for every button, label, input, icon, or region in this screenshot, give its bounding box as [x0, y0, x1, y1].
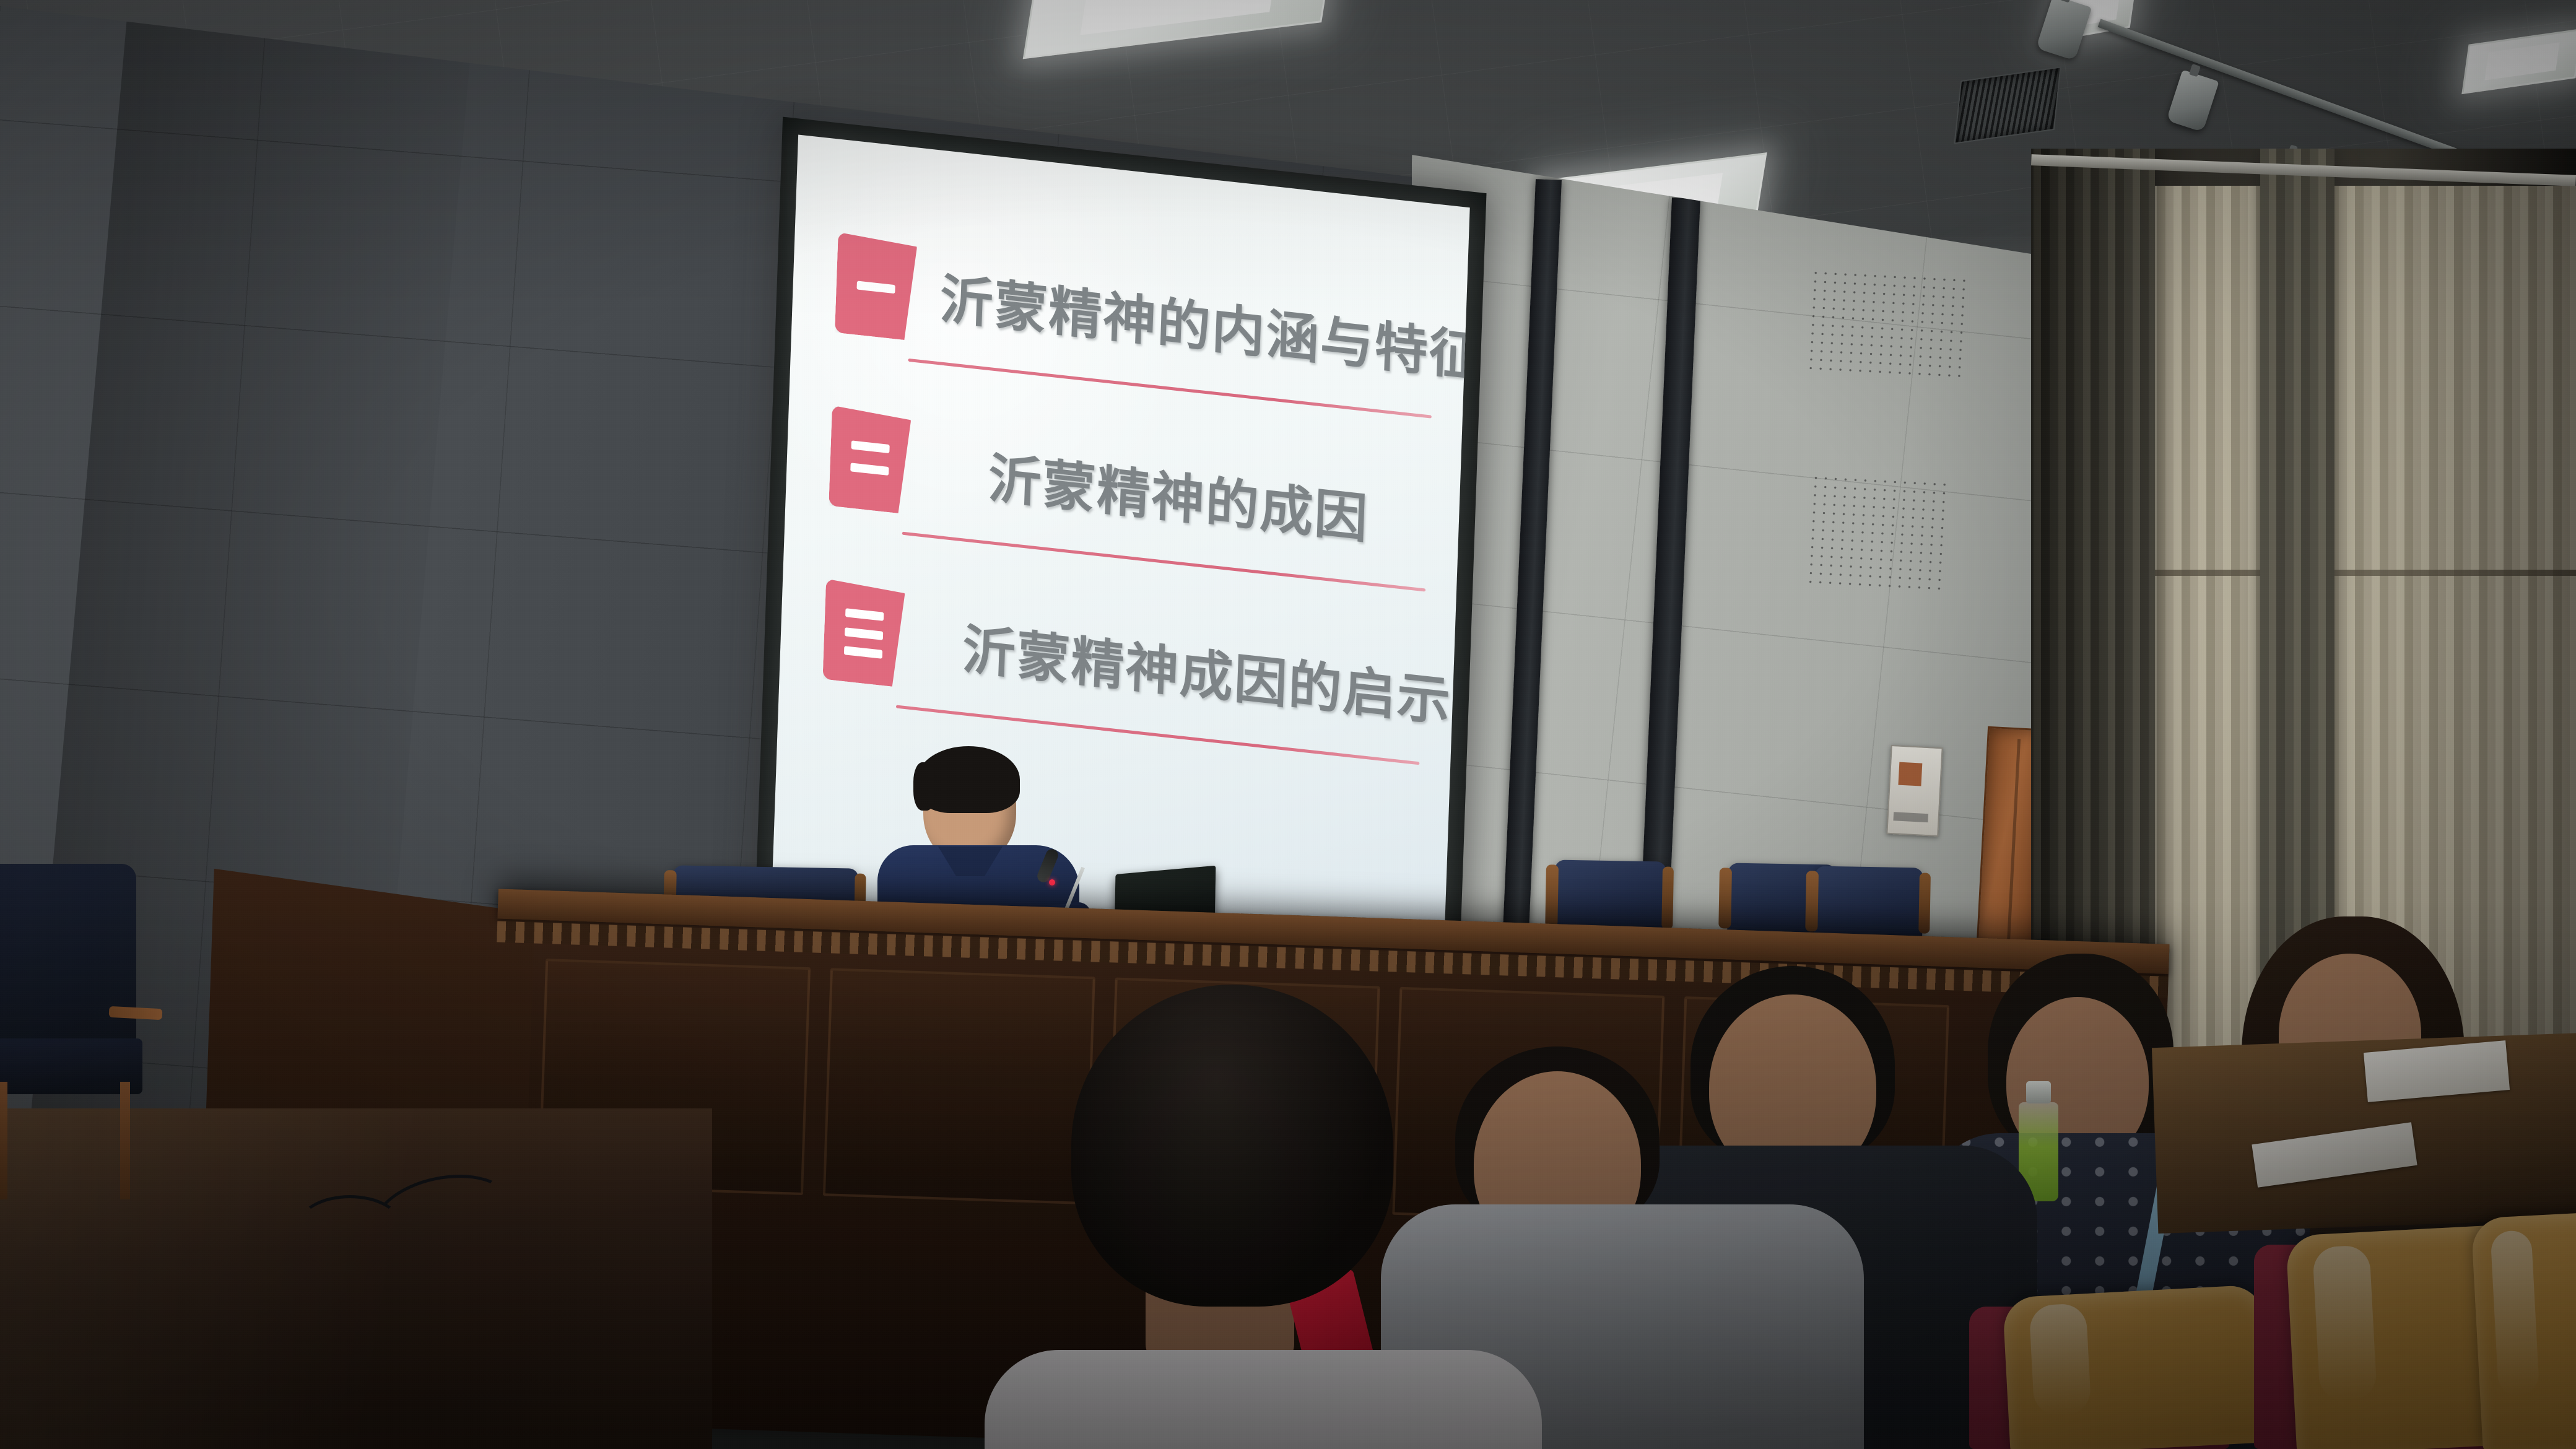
numeral-stroke — [851, 441, 890, 454]
chair-leg — [0, 1082, 7, 1199]
audience-member — [1071, 985, 1455, 1449]
desk-front-panel — [823, 968, 1095, 1204]
slide-agenda-item: 沂蒙精神的成因 — [829, 406, 1436, 572]
numeral-stroke — [845, 608, 884, 621]
acoustic-perforated-panel — [1806, 268, 1972, 381]
visitor-chair[interactable] — [0, 864, 155, 1161]
numeral-stroke — [845, 627, 883, 640]
wall-control-panel[interactable] — [1886, 745, 1943, 837]
acoustic-perforated-panel — [1805, 473, 1947, 591]
agenda-item-3-text: 沂蒙精神成因的启示 — [961, 605, 1453, 736]
hair — [1071, 985, 1393, 1307]
numeral-stroke — [844, 646, 882, 659]
control-panel-label — [1893, 812, 1928, 823]
presenter-hair — [917, 746, 1020, 813]
slide-agenda-item: 沂蒙精神的内涵与特征 — [835, 232, 1442, 398]
auditorium-seat[interactable] — [2471, 1209, 2576, 1449]
agenda-number-badge-2 — [829, 406, 911, 515]
control-panel-indicator — [1898, 762, 1922, 786]
auditorium-seat[interactable] — [2003, 1284, 2271, 1449]
shoulders — [985, 1350, 1542, 1449]
numeral-stroke — [857, 281, 895, 294]
lecture-hall-scene: 沂蒙精神的内涵与特征 沂蒙精神的成因 — [0, 0, 2576, 1449]
agenda-number-badge-3 — [822, 579, 905, 688]
chair-backrest — [0, 864, 136, 1050]
bottle-cap — [2026, 1081, 2051, 1103]
slide-agenda-item: 沂蒙精神成因的启示 — [822, 579, 1430, 745]
agenda-number-badge-1 — [835, 232, 917, 341]
chair-leg — [120, 1082, 130, 1199]
numeral-stroke — [850, 463, 889, 476]
microphone-led-indicator — [1049, 879, 1055, 885]
agenda-item-2-text: 沂蒙精神的成因 — [987, 434, 1370, 553]
